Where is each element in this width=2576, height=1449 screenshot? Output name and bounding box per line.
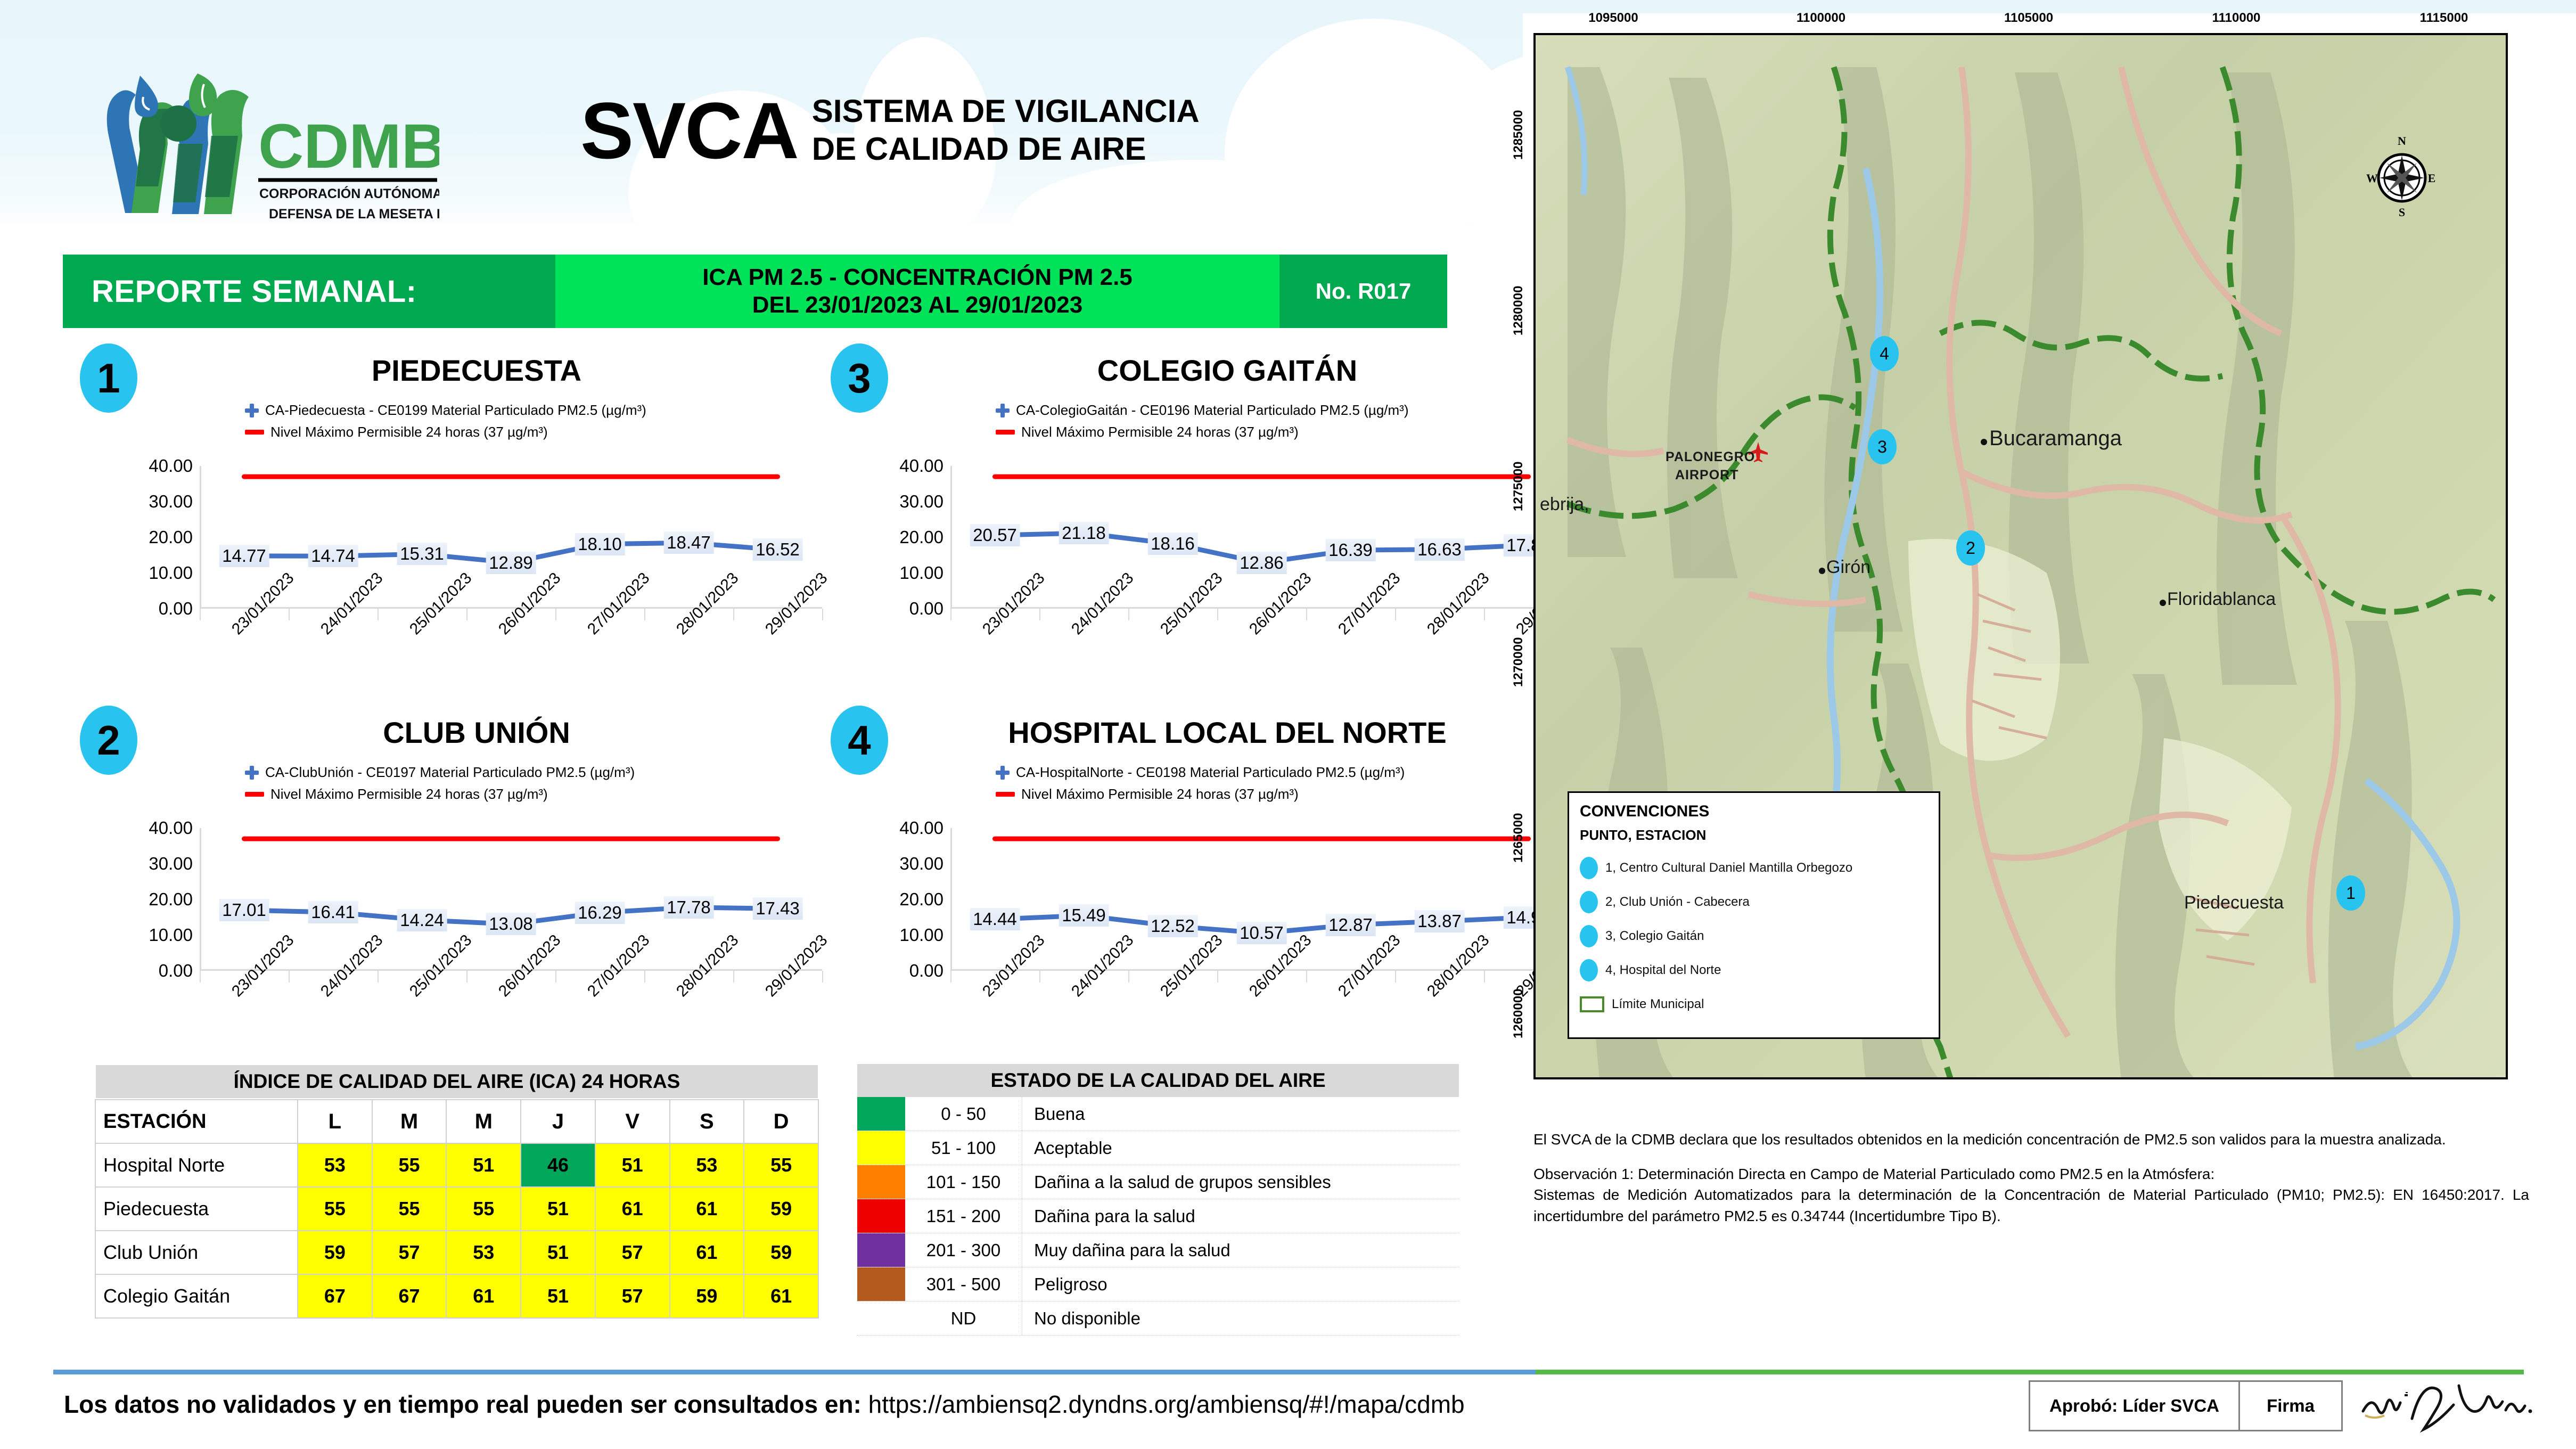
chart-badge: 4 (831, 706, 888, 775)
conventions-item: 2, Club Unión - Cabecera (1580, 885, 1928, 919)
svg-text:E: E (2428, 171, 2436, 185)
estado-range-label: ND (905, 1301, 1022, 1335)
ica-cell-station: Club Unión (95, 1231, 298, 1274)
chart-piedecuesta: 1PIEDECUESTACA-Piedecuesta - CE0199 Mate… (80, 343, 841, 711)
data-point-label: 21.18 (1059, 522, 1109, 544)
ica-table-panel: ÍNDICE DE CALIDAD DEL AIRE (ICA) 24 HORA… (95, 1064, 819, 1319)
ica-header-day: M (372, 1100, 447, 1143)
data-point-label: 18.10 (575, 533, 625, 555)
map-label-floridablanca: Floridablanca (2167, 589, 2276, 610)
map-label-palonegro: PALONEGRO (1666, 449, 1755, 465)
estado-color-swatch (857, 1165, 905, 1199)
map-x-coord-label: 1115000 (2420, 11, 2468, 26)
limit-line-icon (996, 792, 1015, 797)
station-marker-icon (1580, 857, 1598, 879)
legend-row-series: CA-ClubUnión - CE0197 Material Particula… (245, 764, 635, 781)
legend-limit-label: Nivel Máximo Permisible 24 horas (37 µg/… (1021, 786, 1299, 803)
station-marker-icon (1580, 925, 1598, 947)
chart-x-labels: 23/01/202324/01/202325/01/202326/01/2023… (950, 621, 1573, 696)
report-banner-center: ICA PM 2.5 - CONCENTRACIÓN PM 2.5 DEL 23… (555, 255, 1279, 328)
chart-badge: 2 (80, 706, 137, 775)
conventions-subtitle: PUNTO, ESTACION (1580, 827, 1928, 844)
estado-legend-row: 101 - 150Dañina a la salud de grupos sen… (857, 1165, 1459, 1199)
data-point-label: 16.52 (752, 538, 803, 561)
chart-title: CLUB UNIÓN (149, 715, 804, 750)
chart-plot-area: 40.0030.0020.0010.000.0020.5721.1818.161… (863, 466, 1576, 626)
y-tick-label: 10.00 (149, 563, 193, 583)
estado-legend-row: 201 - 300Muy dañina para la salud (857, 1233, 1459, 1267)
estado-color-swatch (857, 1097, 905, 1131)
ica-cell-value: 53 (670, 1143, 744, 1187)
ica-cell-value: 51 (595, 1143, 670, 1187)
chart-plot-area: 40.0030.0020.0010.000.0014.4415.4912.521… (863, 828, 1576, 988)
svg-text:W: W (2366, 171, 2378, 185)
air-quality-status-legend: ESTADO DE LA CALIDAD DEL AIRE 0 - 50Buen… (857, 1064, 1459, 1336)
map-label-lebrija: ebrija, (1540, 494, 1589, 515)
ica-cell-value: 53 (446, 1231, 521, 1274)
legend-limit-label: Nivel Máximo Permisible 24 horas (37 µg/… (270, 424, 548, 440)
legend-series-label: CA-HospitalNorte - CE0198 Material Parti… (1016, 764, 1405, 781)
estado-range-label: 101 - 150 (905, 1165, 1022, 1199)
chart-colegio-gaitan: 3COLEGIO GAITÁNCA-ColegioGaitán - CE0196… (831, 343, 1592, 711)
y-tick-label: 20.00 (899, 889, 944, 910)
data-point-label: 14.74 (308, 545, 358, 567)
ica-header-day: D (744, 1100, 818, 1143)
data-point-label: 17.43 (752, 897, 803, 920)
map-x-coord-label: 1095000 (1588, 11, 1638, 26)
map-x-coord-label: 1105000 (2004, 11, 2053, 26)
map-station-marker-1[interactable]: 1 (2336, 875, 2365, 911)
svca-subtitle: SISTEMA DE VIGILANCIA DE CALIDAD DE AIRE (812, 93, 1200, 168)
municipal-boundary-icon (1580, 996, 1604, 1012)
ica-cell-value: 46 (521, 1143, 595, 1187)
y-tick-label: 10.00 (899, 925, 944, 945)
conventions-item-list: 1, Centro Cultural Daniel Mantilla Orbeg… (1580, 851, 1928, 987)
legend-limit-label: Nivel Máximo Permisible 24 horas (37 µg/… (270, 786, 548, 803)
chart-plot-area: 40.0030.0020.0010.000.0014.7714.7415.311… (112, 466, 825, 626)
signature-mark (2359, 1374, 2545, 1438)
map-label-bucaramanga: Bucaramanga (1989, 427, 2122, 451)
estado-legend-row: NDNo disponible (857, 1301, 1459, 1336)
legend-row-series: CA-ColegioGaitán - CE0196 Material Parti… (996, 402, 1409, 419)
estado-legend-row: 301 - 500Peligroso (857, 1267, 1459, 1301)
approval-box: Aprobó: Líder SVCA Firma (2029, 1380, 2343, 1431)
estado-color-swatch (857, 1233, 905, 1267)
estado-color-swatch (857, 1301, 905, 1335)
ica-cell-value: 67 (372, 1274, 447, 1318)
data-point-label: 12.87 (1325, 914, 1376, 936)
y-tick-label: 0.00 (159, 961, 193, 981)
y-tick-label: 30.00 (149, 492, 193, 512)
chart-title: HOSPITAL LOCAL DEL NORTE (900, 715, 1555, 750)
ica-cell-value: 59 (744, 1187, 818, 1231)
conventions-boundary-row: Límite Municipal (1580, 987, 1928, 1021)
legend-limit-label: Nivel Máximo Permisible 24 horas (37 µg/… (1021, 424, 1299, 440)
data-point-label: 12.89 (486, 552, 536, 574)
chart-badge: 1 (80, 343, 137, 413)
ica-cell-station: Hospital Norte (95, 1143, 298, 1187)
legend-row-series: CA-Piedecuesta - CE0199 Material Particu… (245, 402, 646, 419)
compass-rose-icon: N S E W (2362, 131, 2442, 222)
map-label-piedecuesta: Piedecuesta (2184, 893, 2284, 913)
chart-legend: CA-HospitalNorte - CE0198 Material Parti… (996, 764, 1405, 808)
estado-legend-row: 151 - 200Dañina para la salud (857, 1199, 1459, 1233)
ica-table-body: Hospital Norte53555146515355Piedecuesta5… (95, 1143, 818, 1318)
data-point-label: 16.41 (308, 901, 358, 923)
chart-x-labels: 23/01/202324/01/202325/01/202326/01/2023… (200, 984, 822, 1058)
ica-cell-value: 51 (521, 1231, 595, 1274)
ica-cell-value: 55 (744, 1143, 818, 1187)
legend-row-limit: Nivel Máximo Permisible 24 horas (37 µg/… (996, 424, 1409, 440)
data-point-label: 16.63 (1414, 538, 1465, 561)
map-conventions-box: CONVENCIONES PUNTO, ESTACION 1, Centro C… (1568, 791, 1940, 1039)
map-station-marker-2[interactable]: 2 (1956, 530, 1985, 566)
map-y-coord-label: 1280000 (1511, 286, 1526, 335)
footer-note-bold: Los datos no validados y en tiempo real … (64, 1390, 862, 1418)
ica-cell-value: 59 (298, 1231, 372, 1274)
ica-header-day: L (298, 1100, 372, 1143)
y-tick-label: 0.00 (909, 961, 944, 981)
ica-cell-station: Colegio Gaitán (95, 1274, 298, 1318)
station-marker-icon (1580, 891, 1598, 913)
conventions-item-label: 4, Hospital del Norte (1605, 963, 1721, 978)
table-row: Club Unión59575351576159 (95, 1231, 818, 1274)
cdmb-logo: CDMB CORPORACIÓN AUTÓNOMA REGIONAL PARA … (99, 64, 439, 240)
ica-cell-value: 57 (372, 1231, 447, 1274)
chart-legend: CA-Piedecuesta - CE0199 Material Particu… (245, 402, 646, 446)
map-x-coordinate-labels: 10950001100000110500011100001115000 (1533, 11, 2508, 33)
footer-note: Los datos no validados y en tiempo real … (64, 1390, 1465, 1419)
disclaimer-observation-body: Sistemas de Medición Automatizados para … (1533, 1184, 2529, 1226)
map-x-coord-label: 1100000 (1796, 11, 1845, 26)
ica-cell-value: 55 (372, 1187, 447, 1231)
map-y-coord-label: 1285000 (1511, 110, 1526, 160)
report-number-badge: No. R017 (1279, 255, 1447, 328)
conventions-title: CONVENCIONES (1580, 803, 1928, 821)
report-banner-left-label: REPORTE SEMANAL: (63, 255, 555, 328)
station-location-map[interactable]: Bucaramanga Girón Floridablanca Piedecue… (1533, 33, 2508, 1079)
chart-badge: 3 (831, 343, 888, 413)
ica-cell-value: 59 (744, 1231, 818, 1274)
estado-description: No disponible (1022, 1301, 1459, 1335)
ica-cell-value: 67 (298, 1274, 372, 1318)
data-point-label: 15.49 (1059, 904, 1109, 927)
conventions-item-label: 2, Club Unión - Cabecera (1605, 895, 1750, 910)
svg-text:S: S (2399, 206, 2405, 219)
data-point-label: 12.86 (1236, 552, 1287, 574)
chart-x-labels: 23/01/202324/01/202325/01/202326/01/2023… (200, 621, 822, 696)
ica-cell-value: 61 (670, 1187, 744, 1231)
map-y-coord-label: 1275000 (1511, 462, 1526, 511)
ica-cell-station: Piedecuesta (95, 1187, 298, 1231)
chart-legend: CA-ClubUnión - CE0197 Material Particula… (245, 764, 635, 808)
y-tick-label: 20.00 (899, 527, 944, 547)
legend-series-label: CA-ClubUnión - CE0197 Material Particula… (265, 764, 635, 781)
ica-table: ESTACIÓNLMMJVSD Hospital Norte5355514651… (95, 1099, 819, 1319)
map-y-coord-label: 1260000 (1511, 989, 1526, 1038)
estado-description: Buena (1022, 1097, 1459, 1131)
svca-subtitle-line2: DE CALIDAD DE AIRE (812, 130, 1200, 168)
chart-y-axis: 40.0030.0020.0010.000.00 (863, 466, 948, 609)
chart-y-axis: 40.0030.0020.0010.000.00 (863, 828, 948, 971)
map-station-marker-3[interactable]: 3 (1868, 429, 1897, 464)
conventions-item: 4, Hospital del Norte (1580, 953, 1928, 987)
map-station-marker-4[interactable]: 4 (1870, 336, 1899, 371)
data-point-label: 13.08 (486, 913, 536, 935)
ica-header-day: M (446, 1100, 521, 1143)
series-marker-icon (996, 404, 1010, 417)
y-tick-label: 30.00 (899, 492, 944, 512)
map-place-dot (2160, 600, 2166, 606)
y-tick-label: 0.00 (909, 599, 944, 619)
y-tick-label: 30.00 (899, 854, 944, 874)
data-point-label: 14.24 (397, 909, 447, 931)
conventions-item: 1, Centro Cultural Daniel Mantilla Orbeg… (1580, 851, 1928, 885)
estado-color-swatch (857, 1199, 905, 1233)
legend-series-label: CA-Piedecuesta - CE0199 Material Particu… (265, 402, 646, 419)
y-tick-label: 40.00 (899, 818, 944, 838)
series-marker-icon (996, 766, 1010, 780)
disclaimer-paragraph-1: El SVCA de la CDMB declara que los resul… (1533, 1129, 2529, 1150)
table-row: Hospital Norte53555146515355 (95, 1143, 818, 1187)
data-point-label: 13.87 (1414, 910, 1465, 932)
estado-range-label: 301 - 500 (905, 1267, 1022, 1301)
estado-range-label: 201 - 300 (905, 1233, 1022, 1267)
map-place-dot (1981, 439, 1987, 445)
estado-legend-caption: ESTADO DE LA CALIDAD DEL AIRE (857, 1064, 1459, 1097)
svca-title-block: SVCA SISTEMA DE VIGILANCIA DE CALIDAD DE… (580, 91, 1200, 170)
footer-divider (53, 1370, 2524, 1374)
chart-legend: CA-ColegioGaitán - CE0196 Material Parti… (996, 402, 1409, 446)
series-marker-icon (245, 766, 259, 780)
ica-cell-value: 61 (595, 1187, 670, 1231)
svca-subtitle-line1: SISTEMA DE VIGILANCIA (812, 93, 1200, 130)
estado-description: Dañina a la salud de grupos sensibles (1022, 1165, 1459, 1199)
y-tick-label: 40.00 (149, 818, 193, 838)
ica-cell-value: 61 (670, 1231, 744, 1274)
ica-cell-value: 51 (446, 1143, 521, 1187)
legend-row-limit: Nivel Máximo Permisible 24 horas (37 µg/… (245, 786, 635, 803)
logo-subtitle-line2: DEFENSA DE LA MESETA DE BUCARAMANGA (269, 207, 439, 222)
y-tick-label: 10.00 (899, 563, 944, 583)
map-label-giron: Girón (1826, 557, 1871, 578)
legend-row-limit: Nivel Máximo Permisible 24 horas (37 µg/… (245, 424, 646, 440)
chart-y-axis: 40.0030.0020.0010.000.00 (112, 828, 197, 971)
data-point-label: 16.29 (575, 902, 625, 924)
ica-cell-value: 61 (446, 1274, 521, 1318)
legend-series-label: CA-ColegioGaitán - CE0196 Material Parti… (1016, 402, 1409, 419)
estado-description: Aceptable (1022, 1131, 1459, 1165)
data-point-label: 18.16 (1147, 533, 1198, 555)
map-y-coord-label: 1265000 (1511, 813, 1526, 863)
data-point-label: 12.52 (1147, 915, 1198, 937)
svg-text:CDMB: CDMB (258, 111, 439, 182)
ica-cell-value: 55 (372, 1143, 447, 1187)
map-x-coord-label: 1110000 (2212, 11, 2261, 26)
data-point-label: 10.57 (1236, 922, 1287, 944)
estado-legend-row: 51 - 100Aceptable (857, 1131, 1459, 1165)
data-point-label: 14.77 (219, 545, 269, 567)
svg-text:N: N (2398, 134, 2406, 148)
ica-header-day: V (595, 1100, 670, 1143)
chart-club-union: 2CLUB UNIÓNCA-ClubUnión - CE0197 Materia… (80, 706, 841, 1073)
data-point-label: 15.31 (397, 543, 447, 565)
chart-hospital-norte: 4HOSPITAL LOCAL DEL NORTECA-HospitalNort… (831, 706, 1592, 1073)
data-point-label: 17.78 (663, 896, 714, 919)
conventions-item-label: 3, Colegio Gaitán (1605, 929, 1704, 944)
logo-subtitle-line1: CORPORACIÓN AUTÓNOMA REGIONAL PARA LA (259, 185, 439, 201)
limit-line-icon (996, 430, 1015, 435)
data-point-label: 16.39 (1325, 539, 1376, 561)
y-tick-label: 10.00 (149, 925, 193, 945)
y-tick-label: 0.00 (159, 599, 193, 619)
estado-legend-row: 0 - 50Buena (857, 1097, 1459, 1131)
estado-color-swatch (857, 1131, 905, 1165)
chart-title: COLEGIO GAITÁN (900, 353, 1555, 388)
conventions-item-label: 1, Centro Cultural Daniel Mantilla Orbeg… (1605, 861, 1852, 875)
legend-row-series: CA-HospitalNorte - CE0198 Material Parti… (996, 764, 1405, 781)
data-point-label: 20.57 (970, 524, 1020, 546)
footer-url[interactable]: https://ambiensq2.dyndns.org/ambiensq/#!… (862, 1390, 1465, 1418)
chart-plot-area: 40.0030.0020.0010.000.0017.0116.4114.241… (112, 828, 825, 988)
ica-header-day: S (670, 1100, 744, 1143)
chart-title: PIEDECUESTA (149, 353, 804, 388)
report-banner-title: ICA PM 2.5 - CONCENTRACIÓN PM 2.5 (702, 264, 1133, 291)
series-marker-icon (245, 404, 259, 417)
y-tick-label: 20.00 (149, 889, 193, 910)
estado-range-label: 51 - 100 (905, 1131, 1022, 1165)
ica-header-station: ESTACIÓN (95, 1100, 298, 1143)
estado-description: Peligroso (1022, 1267, 1459, 1301)
legend-row-limit: Nivel Máximo Permisible 24 horas (37 µg/… (996, 786, 1405, 803)
y-tick-label: 20.00 (149, 527, 193, 547)
ica-cell-value: 57 (595, 1274, 670, 1318)
ica-cell-value: 55 (446, 1187, 521, 1231)
chart-x-labels: 23/01/202324/01/202325/01/202326/01/2023… (950, 984, 1573, 1058)
chart-y-axis: 40.0030.0020.0010.000.00 (112, 466, 197, 609)
station-marker-icon (1580, 959, 1598, 981)
ica-cell-value: 55 (298, 1187, 372, 1231)
estado-range-label: 0 - 50 (905, 1097, 1022, 1131)
ica-cell-value: 51 (521, 1187, 595, 1231)
conventions-item: 3, Colegio Gaitán (1580, 919, 1928, 953)
table-row: Piedecuesta55555551616159 (95, 1187, 818, 1231)
limit-line-icon (245, 430, 264, 435)
data-point-label: 17.01 (219, 899, 269, 921)
map-label-airport: AIRPORT (1675, 468, 1739, 483)
y-tick-label: 30.00 (149, 854, 193, 874)
ica-cell-value: 57 (595, 1231, 670, 1274)
estado-color-swatch (857, 1267, 905, 1301)
signature-icon (2359, 1374, 2545, 1438)
conventions-boundary-label: Límite Municipal (1612, 997, 1704, 1012)
y-tick-label: 40.00 (149, 456, 193, 476)
ica-cell-value: 51 (521, 1274, 595, 1318)
map-y-coord-label: 1270000 (1511, 637, 1526, 687)
data-point-label: 18.47 (663, 531, 714, 554)
svca-acronym: SVCA (580, 91, 798, 170)
ica-cell-value: 59 (670, 1274, 744, 1318)
estado-legend-rows: 0 - 50Buena51 - 100Aceptable101 - 150Dañ… (857, 1097, 1459, 1336)
map-place-dot (1819, 568, 1825, 574)
ica-table-header-row: ESTACIÓNLMMJVSD (95, 1100, 818, 1143)
cdmb-logo-icon: CDMB CORPORACIÓN AUTÓNOMA REGIONAL PARA … (99, 64, 439, 240)
report-banner-daterange: DEL 23/01/2023 AL 29/01/2023 (752, 291, 1083, 319)
approved-by-label: Aprobó: Líder SVCA (2030, 1382, 2240, 1430)
ica-table-caption: ÍNDICE DE CALIDAD DEL AIRE (ICA) 24 HORA… (95, 1064, 819, 1099)
limit-line-icon (245, 792, 264, 797)
data-point-label: 14.44 (970, 908, 1020, 930)
y-tick-label: 40.00 (899, 456, 944, 476)
disclaimer-observation-title: Observación 1: Determinación Directa en … (1533, 1164, 2529, 1184)
estado-range-label: 151 - 200 (905, 1199, 1022, 1233)
disclaimer-block: El SVCA de la CDMB declara que los resul… (1533, 1129, 2529, 1240)
estado-description: Dañina para la salud (1022, 1199, 1459, 1233)
ica-header-day: J (521, 1100, 595, 1143)
signature-label: Firma (2240, 1382, 2341, 1430)
report-banner: REPORTE SEMANAL: ICA PM 2.5 - CONCENTRAC… (63, 255, 1447, 328)
ica-cell-value: 53 (298, 1143, 372, 1187)
estado-description: Muy dañina para la salud (1022, 1233, 1459, 1267)
table-row: Colegio Gaitán67676151575961 (95, 1274, 818, 1318)
ica-cell-value: 61 (744, 1274, 818, 1318)
